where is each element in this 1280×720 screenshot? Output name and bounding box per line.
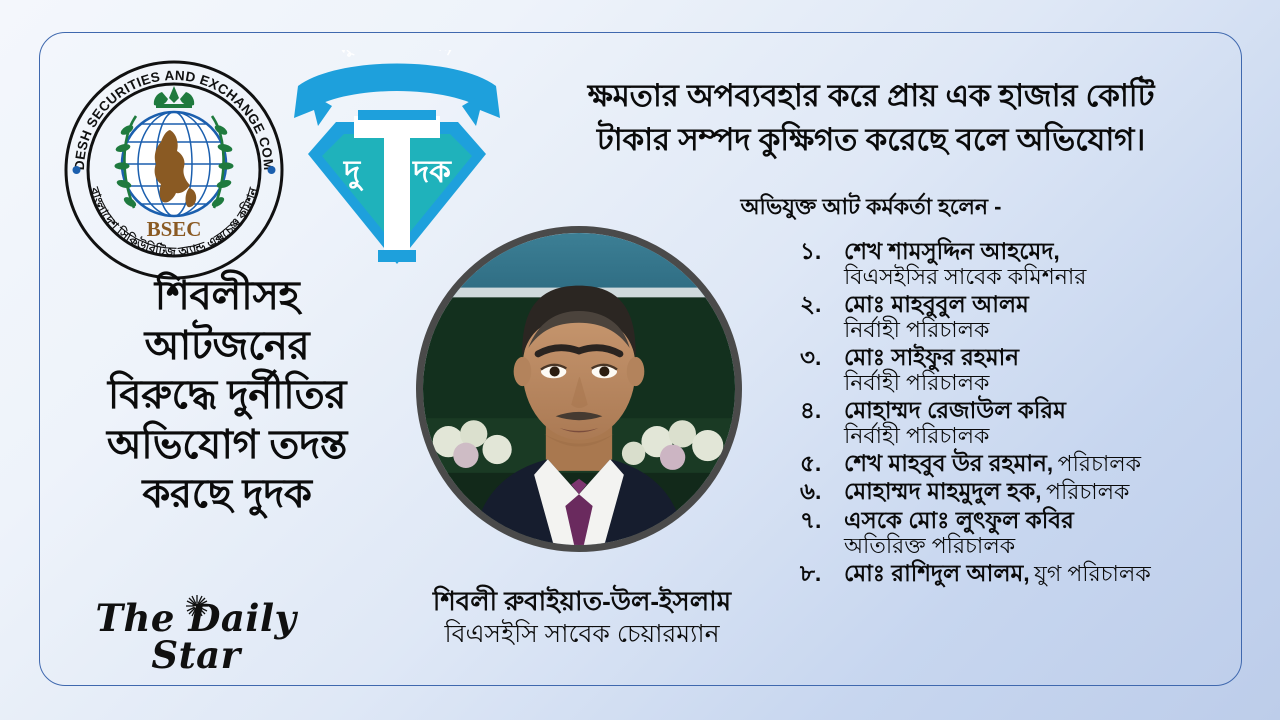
bsec-seal-icon: BANGLADESH SECURITIES AND EXCHANGE COMMI…	[62, 58, 286, 282]
official-name: শেখ শামসুদ্দিন আহমেদ,	[844, 238, 1060, 264]
list-item: ৫. শেখ মাহবুব উর রহমান, পরিচালক	[800, 450, 1250, 477]
svg-text:BSEC: BSEC	[147, 217, 202, 241]
main-title: ক্ষমতার অপব্যবহার করে প্রায় এক হাজার কো…	[512, 74, 1230, 162]
person-portrait	[416, 226, 742, 552]
portrait-role: বিএসইসি সাবেক চেয়ারম্যান	[362, 619, 802, 649]
svg-text:দুর্নীতি দমন কমিশন: দুর্নীতি দমন কমিশন	[337, 50, 457, 60]
list-item-number: ৮.	[800, 560, 844, 587]
headline-line-2: আটজনের	[52, 322, 402, 372]
list-item-number: ১.	[800, 238, 844, 265]
official-name: মোহাম্মদ মাহমুদুল হক,	[844, 478, 1042, 504]
headline-line-4: অভিযোগ তদন্ত	[52, 421, 402, 471]
list-item: ১. শেখ শামসুদ্দিন আহমেদ, বিএসইসির সাবেক …	[800, 238, 1250, 290]
left-headline: শিবলীসহ আটজনের বিরুদ্ধে দুর্নীতির অভিযোগ…	[52, 272, 402, 520]
list-item-body: মোঃ সাইফুর রহমান নির্বাহী পরিচালক	[844, 344, 1250, 396]
official-name: এসকে মোঃ লুৎফুল কবির	[844, 507, 1074, 533]
portrait-caption: শিবলী রুবাইয়াত-উল-ইসলাম বিএসইসি সাবেক চ…	[362, 586, 802, 649]
portrait-name: শিবলী রুবাইয়াত-উল-ইসলাম	[362, 586, 802, 617]
accused-subtitle: অভিযুক্ত আট কর্মকর্তা হলেন -	[512, 190, 1230, 227]
main-title-line-2: টাকার সম্পদ কুক্ষিগত করেছে বলে অভিযোগ।	[512, 118, 1230, 162]
list-item-body: মোঃ মাহবুবুল আলম নির্বাহী পরিচালক	[844, 291, 1250, 343]
list-item: ৮. মোঃ রাশিদুল আলম, যুগ পরিচালক	[800, 560, 1250, 587]
official-role: অতিরিক্ত পরিচালক	[844, 533, 1250, 559]
official-name: মোঃ রাশিদুল আলম,	[844, 560, 1030, 586]
list-item-number: ৬.	[800, 478, 844, 505]
official-name: মোঃ সাইফুর রহমান	[844, 344, 1019, 370]
list-item: ৪. মোহাম্মদ রেজাউল করিম নির্বাহী পরিচালক	[800, 397, 1250, 449]
list-item-body: শেখ শামসুদ্দিন আহমেদ, বিএসইসির সাবেক কমি…	[844, 238, 1250, 290]
official-role: পরিচালক	[1058, 451, 1141, 476]
headline-line-1: শিবলীসহ	[52, 272, 402, 322]
official-name: মোঃ মাহবুবুল আলম	[844, 291, 1029, 317]
list-item-body: মোঃ রাশিদুল আলম, যুগ পরিচালক	[844, 560, 1250, 587]
list-item: ২. মোঃ মাহবুবুল আলম নির্বাহী পরিচালক	[800, 291, 1250, 343]
list-item-number: ৭.	[800, 507, 844, 534]
list-item-body: মোহাম্মদ মাহমুদুল হক, পরিচালক	[844, 478, 1250, 505]
official-role: পরিচালক	[1046, 479, 1129, 504]
list-item-number: ৩.	[800, 344, 844, 371]
official-name: মোহাম্মদ রেজাউল করিম	[844, 397, 1066, 423]
list-item-number: ২.	[800, 291, 844, 318]
list-item: ৩. মোঃ সাইফুর রহমান নির্বাহী পরিচালক	[800, 344, 1250, 396]
list-item-body: মোহাম্মদ রেজাউল করিম নির্বাহী পরিচালক	[844, 397, 1250, 449]
list-item-body: শেখ মাহবুব উর রহমান, পরিচালক	[844, 450, 1250, 477]
official-role: নির্বাহী পরিচালক	[844, 423, 1250, 449]
list-item: ৭. এসকে মোঃ লুৎফুল কবির অতিরিক্ত পরিচালক	[800, 507, 1250, 559]
list-item-number: ৫.	[800, 450, 844, 477]
headline-line-3: বিরুদ্ধে দুর্নীতির	[52, 371, 402, 421]
daily-star-wordmark: The Daily Star	[46, 600, 346, 674]
official-role: যুগ পরিচালক	[1034, 561, 1151, 586]
official-role: নির্বাহী পরিচালক	[844, 370, 1250, 396]
dudok-diamond-icon: দুর্নীতি দমন কমিশন দু দক	[292, 50, 502, 290]
official-role: বিএসইসির সাবেক কমিশনার	[844, 264, 1250, 290]
svg-text:দক: দক	[412, 154, 452, 189]
list-item: ৬. মোহাম্মদ মাহমুদুল হক, পরিচালক	[800, 478, 1250, 505]
list-item-body: এসকে মোঃ লুৎফুল কবির অতিরিক্ত পরিচালক	[844, 507, 1250, 559]
list-item-number: ৪.	[800, 397, 844, 424]
official-role: নির্বাহী পরিচালক	[844, 317, 1250, 343]
accused-officials-list: ১. শেখ শামসুদ্দিন আহমেদ, বিএসইসির সাবেক …	[800, 238, 1250, 588]
main-title-line-1: ক্ষমতার অপব্যবহার করে প্রায় এক হাজার কো…	[512, 74, 1230, 118]
headline-line-5: করছে দুদক	[52, 470, 402, 520]
official-name: শেখ মাহবুব উর রহমান,	[844, 450, 1053, 476]
